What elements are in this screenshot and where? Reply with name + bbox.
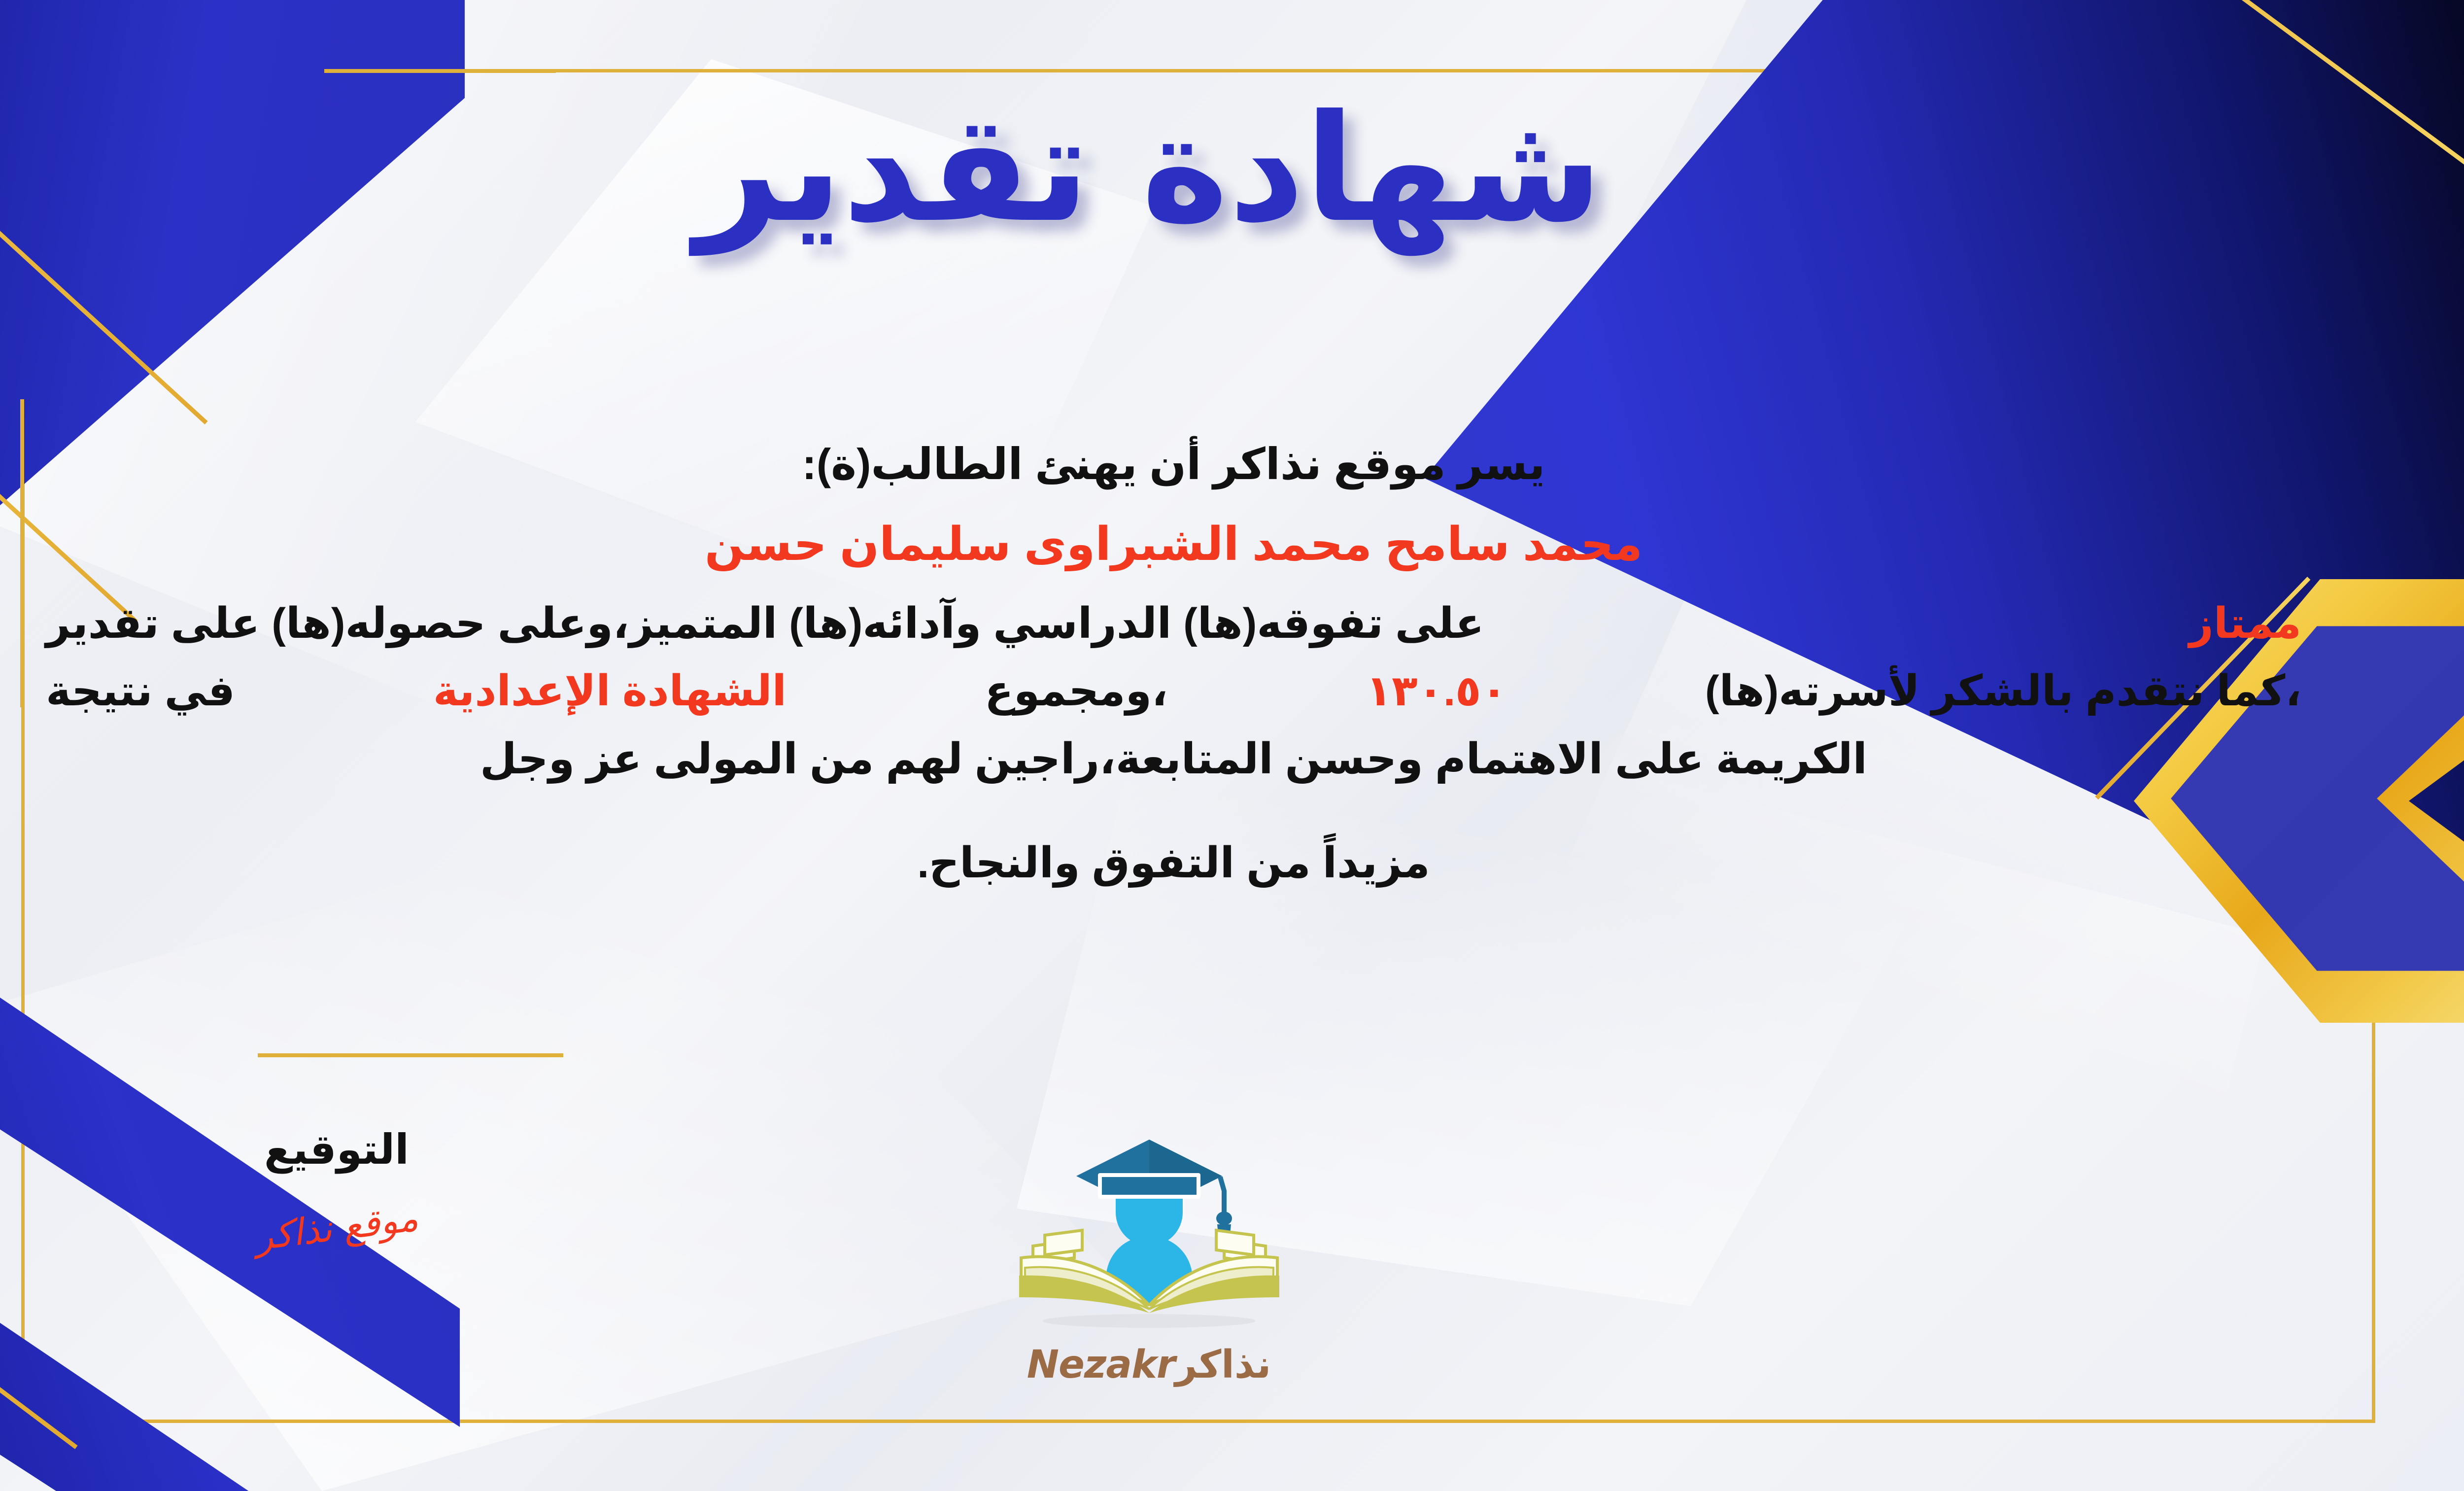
result-line: ،كما نتقدم بالشكر لأسرته(ها) ١٣٠.٥٠ ،ومج… (46, 661, 2301, 721)
achievement-line: ممتاز على تفوقه(ها) الدراسي وآدائه(ها) ا… (46, 594, 2301, 653)
exam-name-value: الشهادة الإعدادية (433, 661, 787, 721)
grade-value: ممتاز (2189, 594, 2301, 653)
certificate-title: شهادة تقدير (0, 91, 2464, 246)
congratulation-line: يسر موقع نذاكر أن يهنئ الطالب(ة): (46, 434, 2301, 495)
total-label: ،ومجموع (985, 661, 1168, 721)
achievement-text: على تفوقه(ها) الدراسي وآدائه(ها) المتميز… (46, 594, 1484, 653)
gold-frame-connector (324, 69, 556, 73)
gold-frame-connector (20, 495, 24, 707)
brand-name-english: Nezakr (1027, 1343, 1175, 1387)
total-score-value: ١٣٠.٥٠ (1366, 661, 1507, 721)
brand-wordmark: نذاكرNezakr (962, 1343, 1336, 1387)
graduate-open-book-icon (1011, 1134, 1287, 1341)
gratitude-line: الكريمة على الاهتمام وحسن المتابعة،راجين… (46, 728, 2301, 790)
student-name: محمد سامح محمد الشبراوى سليمان حسن (46, 514, 2301, 574)
signature-block: التوقيع موقع نذاكر (208, 1129, 465, 1246)
certificate-body: يسر موقع نذاكر أن يهنئ الطالب(ة): محمد س… (46, 434, 2301, 936)
closing-line: مزيداً من التفوق والنجاح. (46, 832, 2301, 894)
gold-frame-connector (258, 1053, 563, 1057)
signature-label: التوقيع (208, 1129, 465, 1170)
brand-name-arabic: نذاكر (1175, 1343, 1271, 1387)
brand-logo: نذاكرNezakr (962, 1134, 1336, 1387)
result-label: في نتيجة (46, 661, 235, 721)
certificate-canvas: شهادة تقدير يسر موقع نذاكر أن يهنئ الطال… (0, 0, 2464, 1491)
family-thanks-text: ،كما نتقدم بالشكر لأسرته(ها) (1705, 661, 2301, 721)
